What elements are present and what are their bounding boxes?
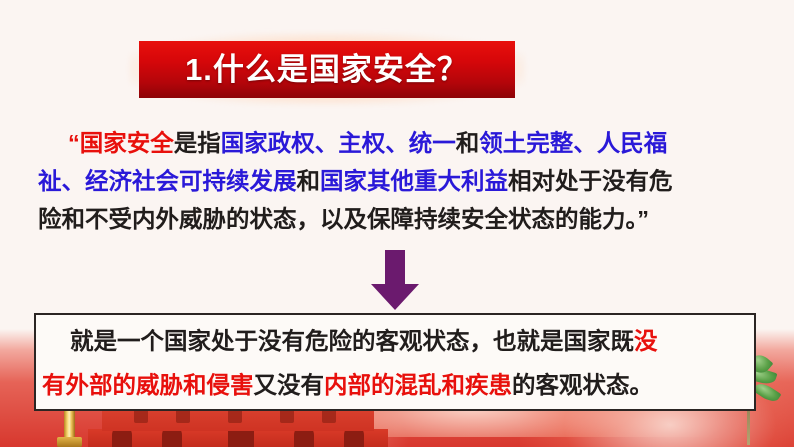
definition-seg-shizhi: 是指	[174, 130, 221, 156]
definition-seg-liyi: 国家其他重大利益	[320, 168, 508, 194]
definition-seg-lingtu: 领土完整、人民福	[479, 130, 667, 156]
definition-line-2: 祉、经济社会可持续发展和国家其他重大利益相对处于没有危	[38, 162, 756, 200]
plant-leaf	[753, 380, 782, 405]
definition-seg-tail: 险和不受内外威胁的状态，以及保障持续安全状态的能力。”	[38, 206, 649, 232]
banner-plate: 1.什么是国家安全？	[139, 41, 515, 98]
conclusion-seg-main: 就是一个国家处于没有危险的客观状态，也就是国家既	[70, 328, 634, 354]
gate-arch	[294, 425, 314, 447]
definition-seg-he-2: 和	[297, 168, 321, 194]
page-title: 1.什么是国家安全？	[185, 54, 469, 85]
slide-canvas: 1.什么是国家安全？ “国家安全是指国家政权、主权、统一和领土完整、人民福 祉、…	[0, 0, 794, 447]
conclusion-seg-neibu: 内部的混乱和疾患	[324, 372, 512, 398]
definition-quote-open: “	[68, 130, 80, 156]
gate-arch	[112, 425, 132, 447]
title-banner: 1.什么是国家安全？	[129, 33, 525, 105]
conclusion-seg-waibu: 有外部的威胁和侵害	[42, 372, 254, 398]
definition-line-3: 险和不受内外威胁的状态，以及保障持续安全状态的能力。”	[38, 200, 756, 238]
definition-paragraph: “国家安全是指国家政权、主权、统一和领土完整、人民福 祉、经济社会可持续发展和国…	[38, 124, 756, 238]
conclusion-line-2: 有外部的威胁和侵害又没有内部的混乱和疾患的客观状态。	[34, 363, 756, 407]
gate-arch	[162, 425, 182, 447]
gate-arch-main	[228, 421, 254, 447]
definition-seg-xiangdui: 相对处于没有危	[508, 168, 673, 194]
conclusion-seg-mei: 没	[634, 328, 658, 354]
gate-arch	[344, 425, 364, 447]
conclusion-seg-youmeiyou: 又没有	[254, 372, 325, 398]
gate-base	[88, 429, 388, 447]
conclusion-seg-keguan: 的客观状态。	[512, 372, 653, 398]
conclusion-text: 就是一个国家处于没有危险的客观状态，也就是国家既没 有外部的威胁和侵害又没有内部…	[34, 319, 756, 407]
definition-seg-zhengquan: 国家政权、主权、统一	[221, 130, 456, 156]
conclusion-line-1: 就是一个国家处于没有危险的客观状态，也就是国家既没	[34, 319, 756, 363]
pillar-base	[57, 437, 82, 447]
definition-seg-jingji: 祉、经济社会可持续发展	[38, 168, 297, 194]
definition-seg-he-1: 和	[456, 130, 480, 156]
definition-line-1: “国家安全是指国家政权、主权、统一和领土完整、人民福	[38, 124, 756, 162]
down-arrow-icon	[365, 250, 425, 312]
definition-term-guojiaanquan: 国家安全	[80, 130, 174, 156]
